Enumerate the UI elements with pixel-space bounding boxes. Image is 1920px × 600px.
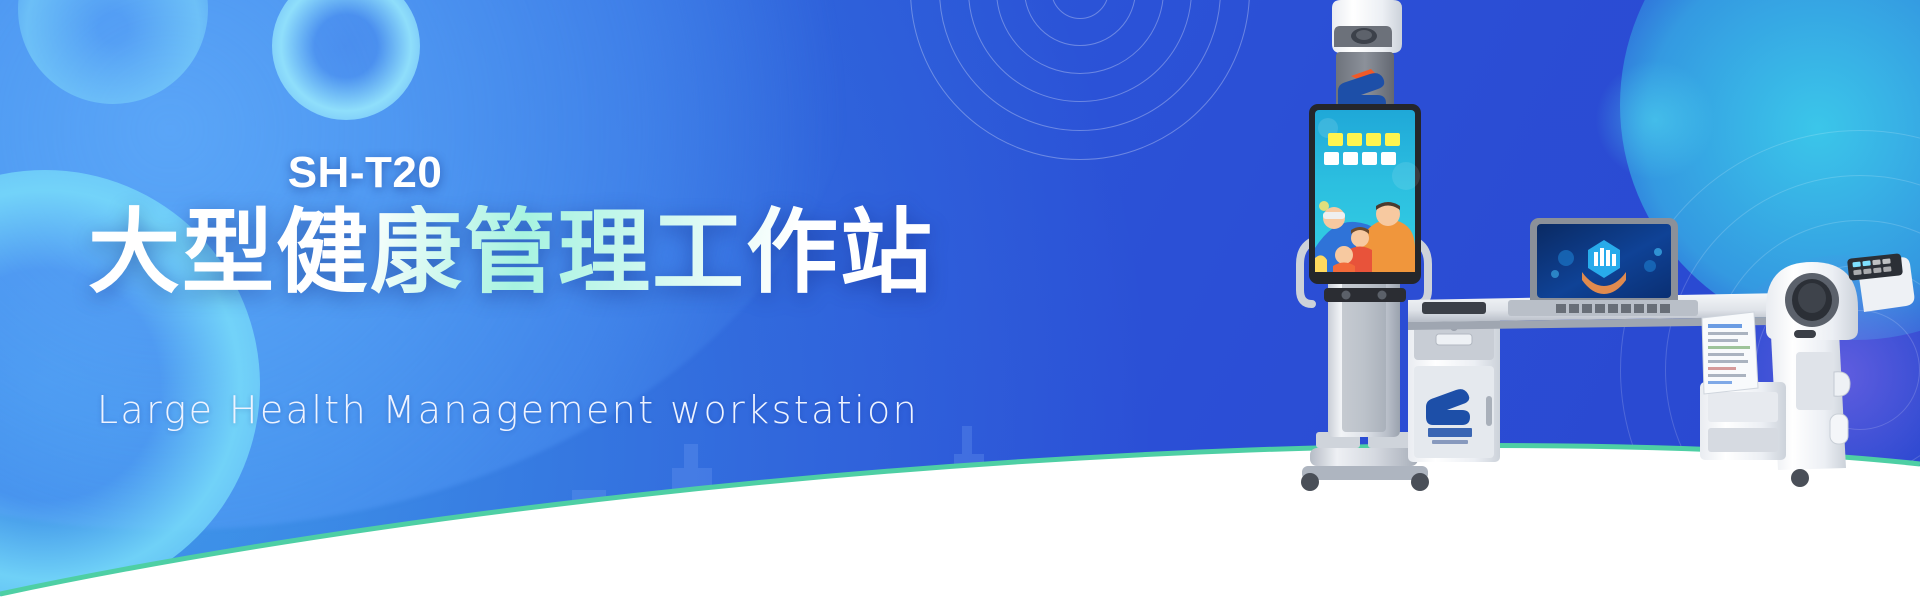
model-label: SH-T20 bbox=[0, 148, 1040, 198]
page-title: 大型健康管理工作站 bbox=[0, 205, 1040, 302]
product-photo-group bbox=[1010, 0, 1920, 600]
monitor-label-text bbox=[1556, 304, 1670, 313]
workstation-desk bbox=[1408, 218, 1914, 487]
workstation-monitor bbox=[1508, 218, 1698, 316]
product-hero-banner: SH-T20 大型健康管理工作站 Large Health Management… bbox=[0, 0, 1920, 600]
banner-copy: SH-T20 大型健康管理工作站 Large Health Management… bbox=[0, 0, 1040, 600]
report-printout bbox=[1702, 312, 1758, 394]
page-subtitle: Large Health Management workstation bbox=[0, 388, 1040, 432]
blood-pressure-monitor bbox=[1766, 253, 1914, 340]
kiosk-display bbox=[1309, 104, 1421, 302]
